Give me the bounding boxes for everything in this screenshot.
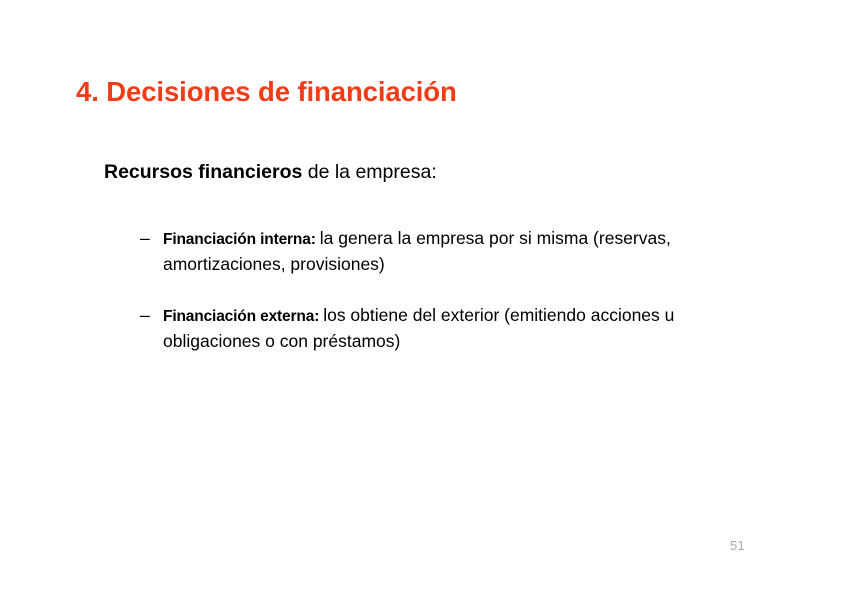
slide-canvas: 4. Decisiones de financiación Recursos f… bbox=[0, 0, 848, 599]
list-item-text: Financiación externa:los obtiene del ext… bbox=[163, 303, 760, 354]
subheading: Recursos financieros de la empresa: bbox=[104, 160, 437, 184]
page-number: 51 bbox=[730, 538, 745, 553]
dash-bullet-icon: – bbox=[140, 303, 150, 328]
list-item-label: Financiación interna: bbox=[163, 231, 316, 248]
list-item-label: Financiación externa: bbox=[163, 308, 319, 325]
list-item: – Financiación externa:los obtiene del e… bbox=[140, 303, 760, 354]
subheading-bold-text: Recursos financieros bbox=[104, 161, 302, 183]
page-title: 4. Decisiones de financiación bbox=[76, 75, 457, 108]
dash-bullet-icon: – bbox=[140, 226, 150, 251]
bullet-list: – Financiación interna:la genera la empr… bbox=[140, 226, 760, 354]
list-item: – Financiación interna:la genera la empr… bbox=[140, 226, 760, 277]
list-item-text: Financiación interna:la genera la empres… bbox=[163, 226, 760, 277]
subheading-regular-text: de la empresa: bbox=[302, 161, 436, 183]
